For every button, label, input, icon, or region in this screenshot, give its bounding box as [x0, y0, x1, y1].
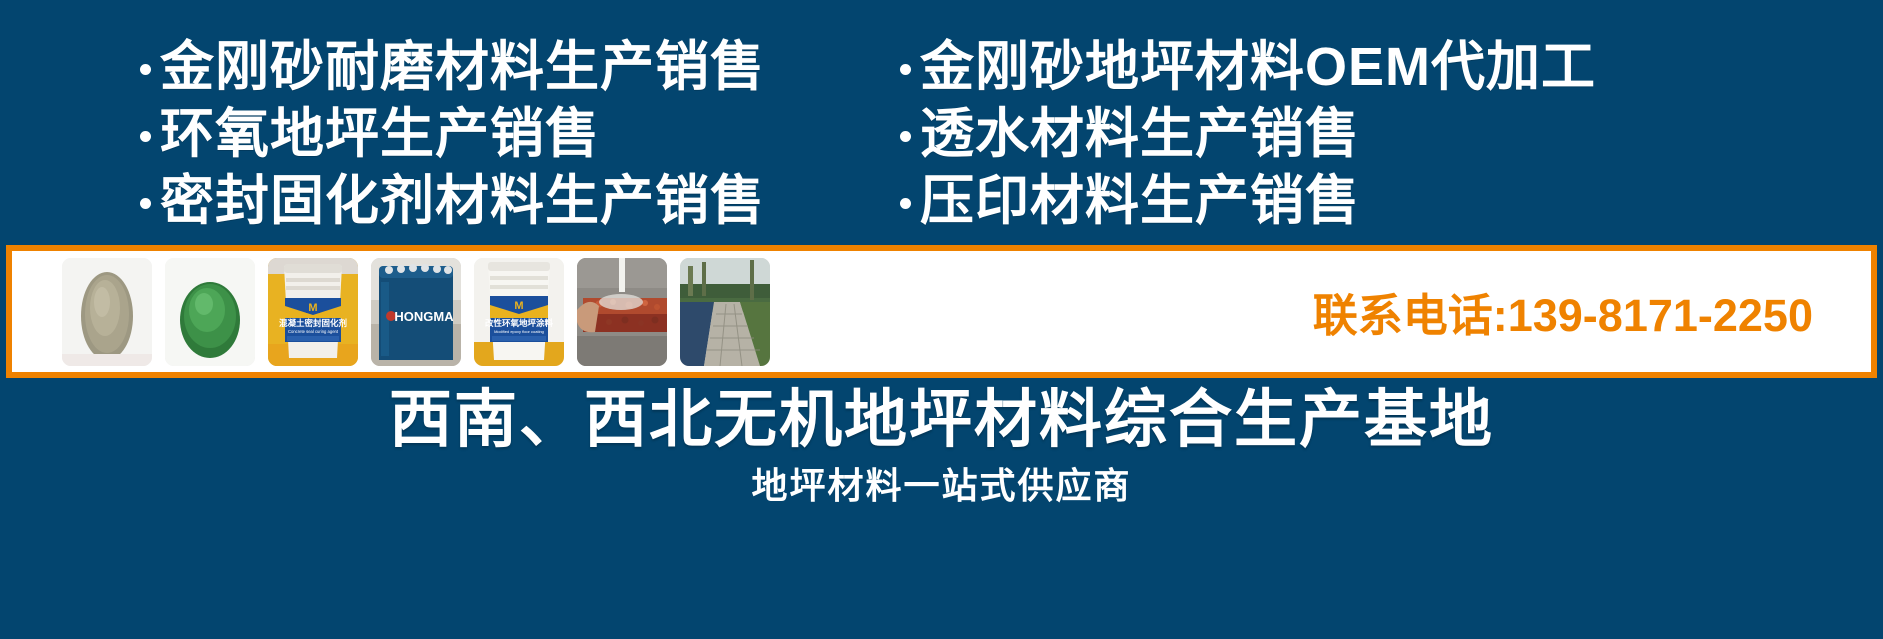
- product-thumbnail-sealer-bucket-photo[interactable]: M 混凝土密封固化剂 Concrete seal curing agent: [268, 258, 358, 366]
- service-label: 密封固化剂材料生产销售: [160, 172, 765, 230]
- bullet-dot-icon: [140, 131, 151, 142]
- product-thumbnail-hongma-drum-photo[interactable]: HONGMA: [371, 258, 461, 366]
- service-item-left-3: 密封固化剂材料生产销售: [140, 172, 880, 230]
- service-item-left-2: 环氧地坪生产销售: [140, 105, 880, 163]
- service-item-right-3: 压印材料生产销售: [900, 172, 1883, 230]
- svg-text:HONGMA: HONGMA: [394, 309, 454, 324]
- svg-text:M: M: [514, 300, 523, 312]
- bullet-dot-icon: [900, 198, 911, 209]
- svg-text:改性环氧地坪涂料: 改性环氧地坪涂料: [485, 318, 554, 329]
- svg-text:Concrete seal curing agent: Concrete seal curing agent: [288, 329, 339, 334]
- bullet-dot-icon: [900, 131, 911, 142]
- bullet-dot-icon: [140, 64, 151, 75]
- service-label: 透水材料生产销售: [920, 105, 1360, 163]
- banner-subheadline: 地坪材料一站式供应商: [0, 464, 1883, 508]
- bullet-dot-icon: [900, 64, 911, 75]
- product-showcase-band: M 混凝土密封固化剂 Concrete seal curing agent: [6, 245, 1877, 378]
- svg-text:混凝土密封固化剂: 混凝土密封固化剂: [279, 318, 347, 329]
- promotional-banner: 金刚砂耐磨材料生产销售 环氧地坪生产销售 密封固化剂材料生产销售 金刚砂地坪材料…: [0, 0, 1883, 639]
- service-label: 环氧地坪生产销售: [160, 105, 600, 163]
- banner-headline: 西南、西北无机地坪材料综合生产基地: [0, 382, 1883, 458]
- service-item-left-1: 金刚砂耐磨材料生产销售: [140, 38, 880, 96]
- product-thumbnail-permeable-concrete-sample-photo[interactable]: [577, 258, 667, 366]
- product-thumbnail-gray-aggregate-powder-photo[interactable]: [62, 258, 152, 366]
- product-thumbnail-strip: M 混凝土密封固化剂 Concrete seal curing agent: [12, 251, 770, 372]
- bullet-dot-icon: [140, 198, 151, 209]
- product-thumbnail-green-aggregate-powder-photo[interactable]: [165, 258, 255, 366]
- service-label: 压印材料生产销售: [920, 172, 1360, 230]
- product-thumbnail-epoxy-bucket-photo[interactable]: M 改性环氧地坪涂料 Modified epoxy floor coating: [474, 258, 564, 366]
- service-item-right-1: 金刚砂地坪材料OEM代加工: [900, 38, 1883, 96]
- service-label: 金刚砂耐磨材料生产销售: [160, 38, 765, 96]
- services-right-column: 金刚砂地坪材料OEM代加工 透水材料生产销售 压印材料生产销售: [880, 38, 1883, 238]
- contact-phone-number[interactable]: 联系电话:139-8171-2250: [1313, 279, 1871, 344]
- svg-text:M: M: [308, 302, 317, 314]
- services-left-column: 金刚砂耐磨材料生产销售 环氧地坪生产销售 密封固化剂材料生产销售: [0, 38, 880, 238]
- service-item-right-2: 透水材料生产销售: [900, 105, 1883, 163]
- product-thumbnail-paved-walkway-photo[interactable]: [680, 258, 770, 366]
- services-section: 金刚砂耐磨材料生产销售 环氧地坪生产销售 密封固化剂材料生产销售 金刚砂地坪材料…: [0, 38, 1883, 238]
- service-label: 金刚砂地坪材料OEM代加工: [920, 38, 1596, 96]
- svg-text:Modified epoxy floor coating: Modified epoxy floor coating: [494, 329, 544, 334]
